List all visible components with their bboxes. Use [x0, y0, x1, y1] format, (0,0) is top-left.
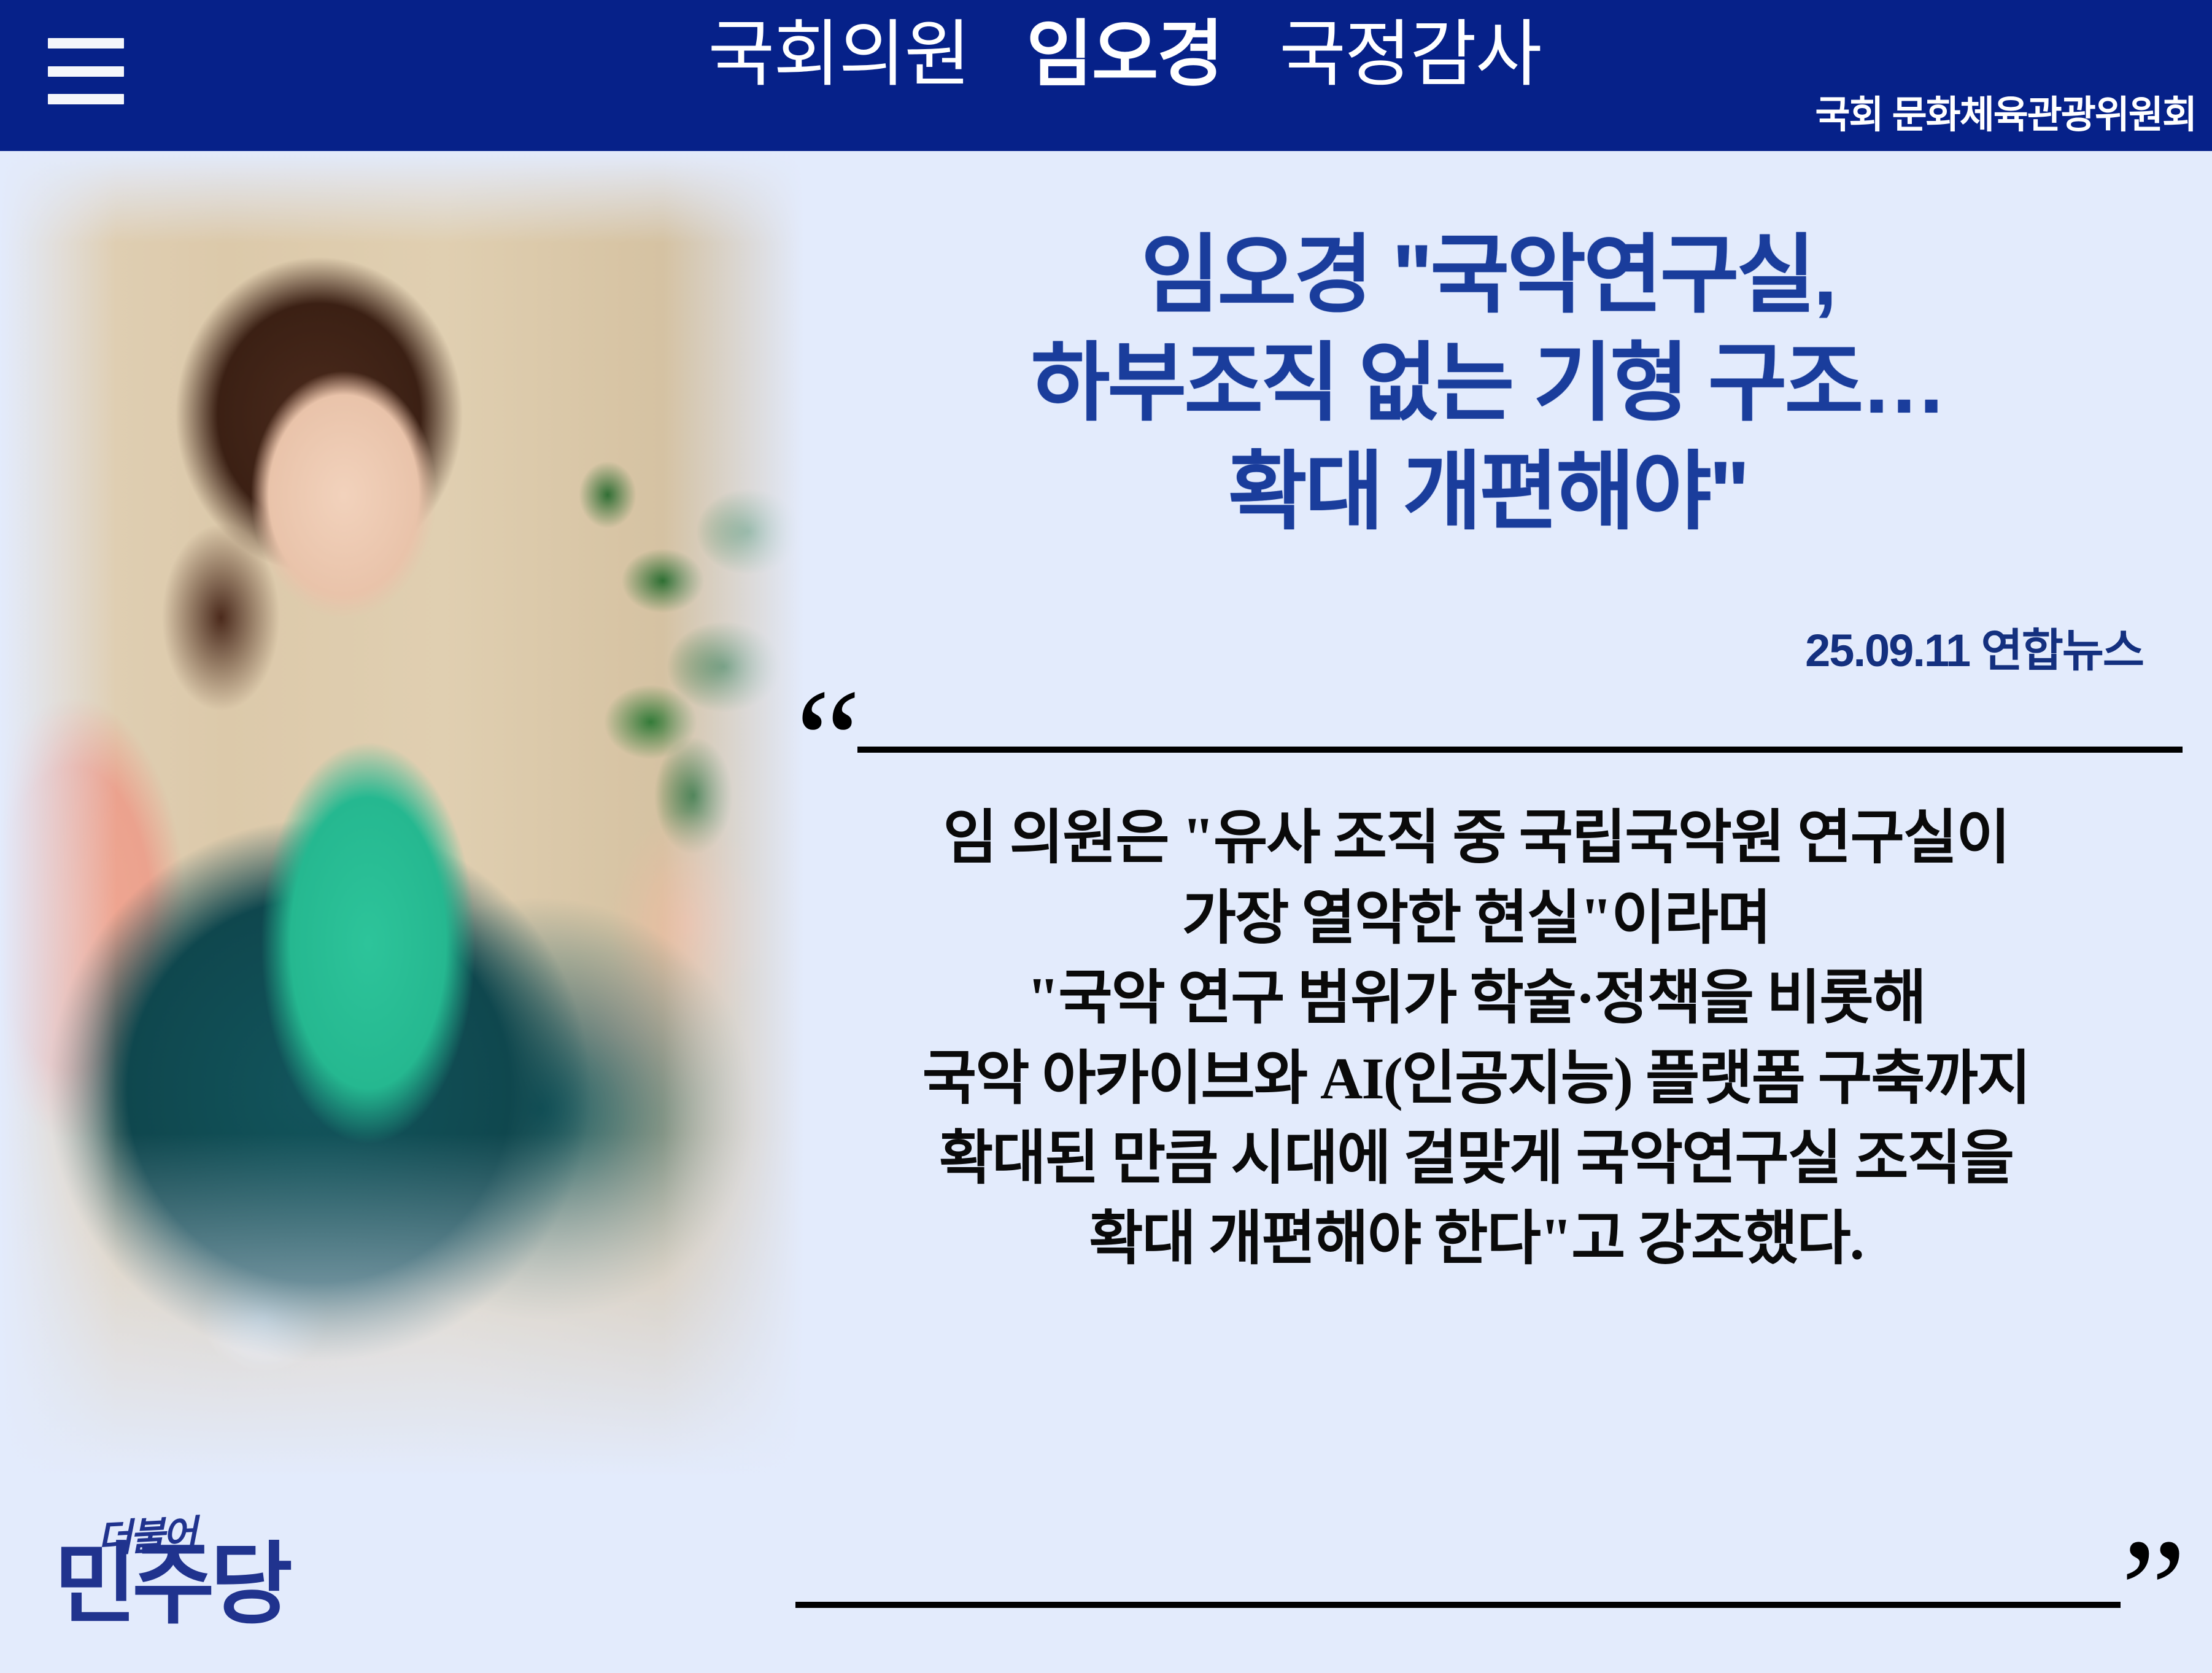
- body-quote-text: 임 의원은 "유사 조직 중 국립국악원 연구실이 가장 열악한 현실"이라며 …: [767, 798, 2185, 1279]
- party-logo-main-text: 민주당: [54, 1540, 288, 1629]
- quote-top-rule: [857, 747, 2183, 753]
- headline-line-2: 하부조직 없는 기형 구조…: [831, 329, 2144, 437]
- portrait-photo-image: [0, 151, 804, 1477]
- header-title-prefix: 국회의원: [708, 14, 970, 95]
- body-quote-line-2: 가장 열악한 현실"이라며: [767, 879, 2185, 959]
- body-quote-line-1: 임 의원은 "유사 조직 중 국립국악원 연구실이: [767, 798, 2185, 879]
- portrait-photo: [0, 151, 804, 1477]
- header-title: 국회의원 임오경 국정감사: [0, 18, 2212, 91]
- body-quote-line-4: 국악 아카이브와 AI(인공지능) 플랫폼 구축까지: [767, 1039, 2185, 1119]
- headline: 임오경 "국악연구실, 하부조직 없는 기형 구조… 확대 개편해야": [831, 221, 2144, 546]
- header-bar: 국회의원 임오경 국정감사 국회 문화체육관광위원회: [0, 0, 2212, 151]
- header-title-name: 임오경: [1026, 14, 1223, 95]
- headline-line-1: 임오경 "국악연구실,: [831, 221, 2144, 329]
- quote-close-divider: ”: [795, 1546, 2183, 1673]
- header-title-suffix: 국정감사: [1279, 14, 1541, 95]
- card-news-slide: 국회의원 임오경 국정감사 국회 문화체육관광위원회 임오경 "국악연구실, 하…: [0, 0, 2212, 1673]
- headline-line-3: 확대 개편해야": [831, 438, 2144, 546]
- open-quote-icon: “: [795, 696, 857, 785]
- header-committee-label: 국회 문화체육관광위원회: [1815, 83, 2196, 139]
- body-quote-line-6: 확대 개편해야 한다"고 강조했다.: [767, 1199, 2185, 1279]
- party-logo: 더불어 민주당: [54, 1505, 318, 1640]
- body-quote-line-5: 확대된 만큼 시대에 걸맞게 국악연구실 조직을: [767, 1119, 2185, 1199]
- body-quote-line-3: "국악 연구 범위가 학술·정책을 비롯해: [767, 958, 2185, 1039]
- hamburger-bar-3: [48, 94, 124, 104]
- close-quote-icon: ”: [2121, 1546, 2183, 1634]
- quote-open-divider: “: [795, 656, 2183, 785]
- quote-bottom-rule: [795, 1602, 2121, 1608]
